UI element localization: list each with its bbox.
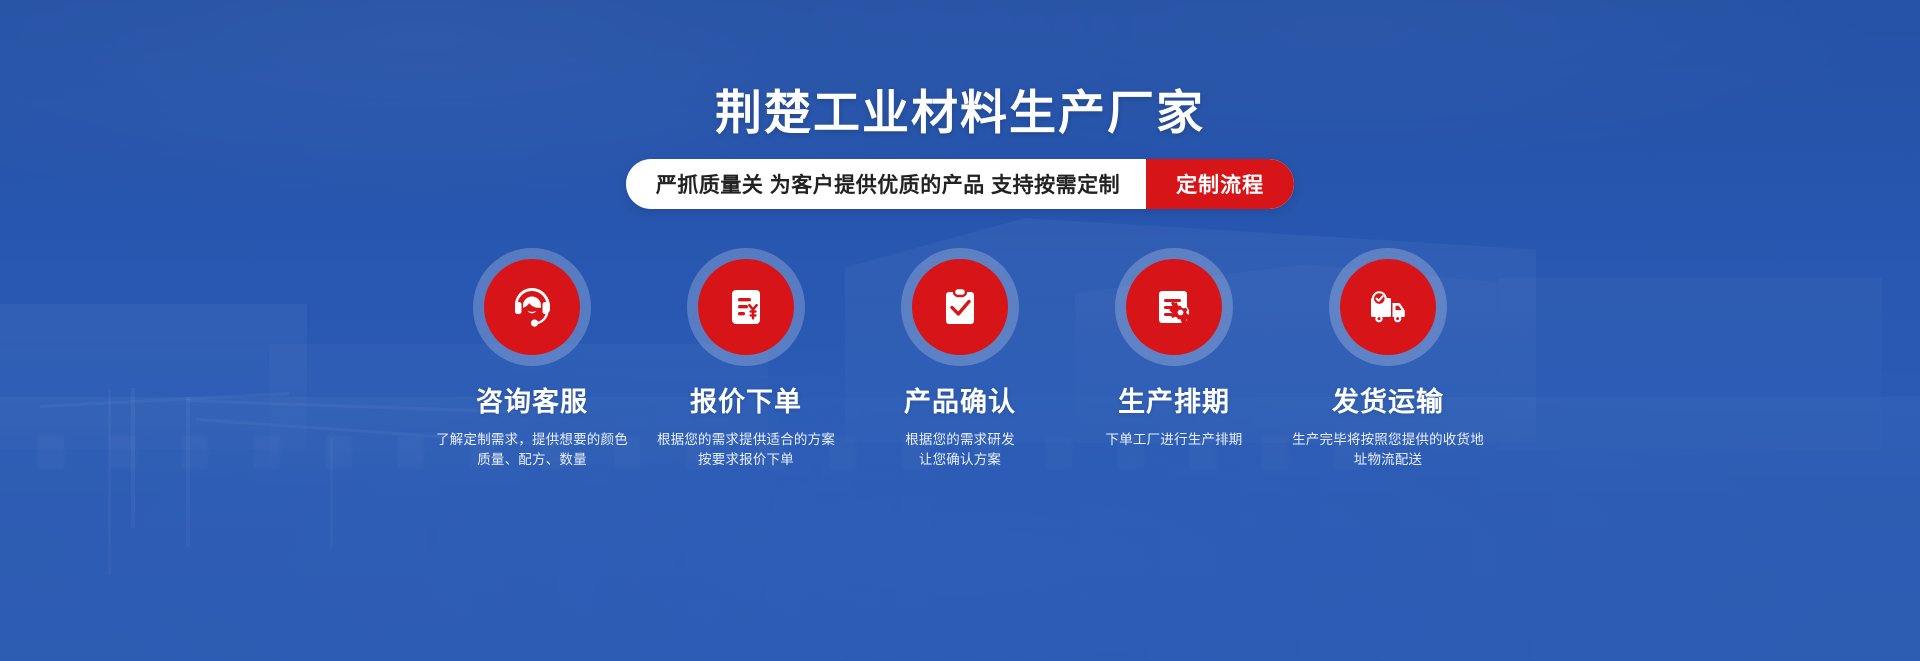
process-step-3[interactable]: 产品确认 根据您的需求研发让您确认方案 [853, 248, 1067, 470]
slogan-text: 严抓质量关 为客户提供优质的产品 支持按需定制 [626, 159, 1146, 209]
delivery-truck-check-icon [1364, 283, 1412, 331]
step-4-description: 下单工厂进行生产排期 [1071, 430, 1277, 450]
process-step-4[interactable]: 生产排期 下单工厂进行生产排期 [1067, 248, 1281, 450]
step-2-description: 根据您的需求提供适合的方案按要求报价下单 [643, 430, 849, 471]
step-1-circle-ring [473, 248, 591, 366]
step-5-circle-ring [1329, 248, 1447, 366]
process-step-5[interactable]: 发货运输 生产完毕将按照您提供的收货地址物流配送 [1281, 248, 1495, 470]
process-steps: 咨询客服 了解定制需求，提供想要的颜色质量、配方、数量 [0, 248, 1920, 470]
step-5-description: 生产完毕将按照您提供的收货地址物流配送 [1285, 430, 1491, 471]
step-3-description: 根据您的需求研发让您确认方案 [857, 430, 1063, 471]
step-4-circle [1126, 259, 1222, 355]
process-step-1[interactable]: 咨询客服 了解定制需求，提供想要的颜色质量、配方、数量 [425, 248, 639, 470]
slogan-pill: 严抓质量关 为客户提供优质的产品 支持按需定制 定制流程 [626, 159, 1294, 209]
process-step-2[interactable]: 报价下单 根据您的需求提供适合的方案按要求报价下单 [639, 248, 853, 470]
step-3-circle-ring [901, 248, 1019, 366]
banner-content: 荆楚工业材料生产厂家 严抓质量关 为客户提供优质的产品 支持按需定制 定制流程 … [0, 0, 1920, 661]
step-1-title: 咨询客服 [476, 388, 588, 418]
clipboard-check-icon [936, 283, 984, 331]
step-3-circle [912, 259, 1008, 355]
step-2-title: 报价下单 [690, 388, 802, 418]
step-2-circle [698, 259, 794, 355]
slogan-pill-container: 严抓质量关 为客户提供优质的产品 支持按需定制 定制流程 [0, 159, 1920, 209]
step-5-circle [1340, 259, 1436, 355]
step-2-circle-ring [687, 248, 805, 366]
document-gear-icon [1150, 283, 1198, 331]
custom-process-button[interactable]: 定制流程 [1146, 159, 1294, 209]
step-1-circle [484, 259, 580, 355]
step-4-circle-ring [1115, 248, 1233, 366]
step-1-description: 了解定制需求，提供想要的颜色质量、配方、数量 [429, 430, 635, 471]
invoice-yuan-icon [722, 283, 770, 331]
step-5-title: 发货运输 [1332, 388, 1444, 418]
step-4-title: 生产排期 [1118, 388, 1230, 418]
step-3-title: 产品确认 [904, 388, 1016, 418]
headset-support-icon [508, 283, 556, 331]
page-title: 荆楚工业材料生产厂家 [0, 89, 1920, 136]
